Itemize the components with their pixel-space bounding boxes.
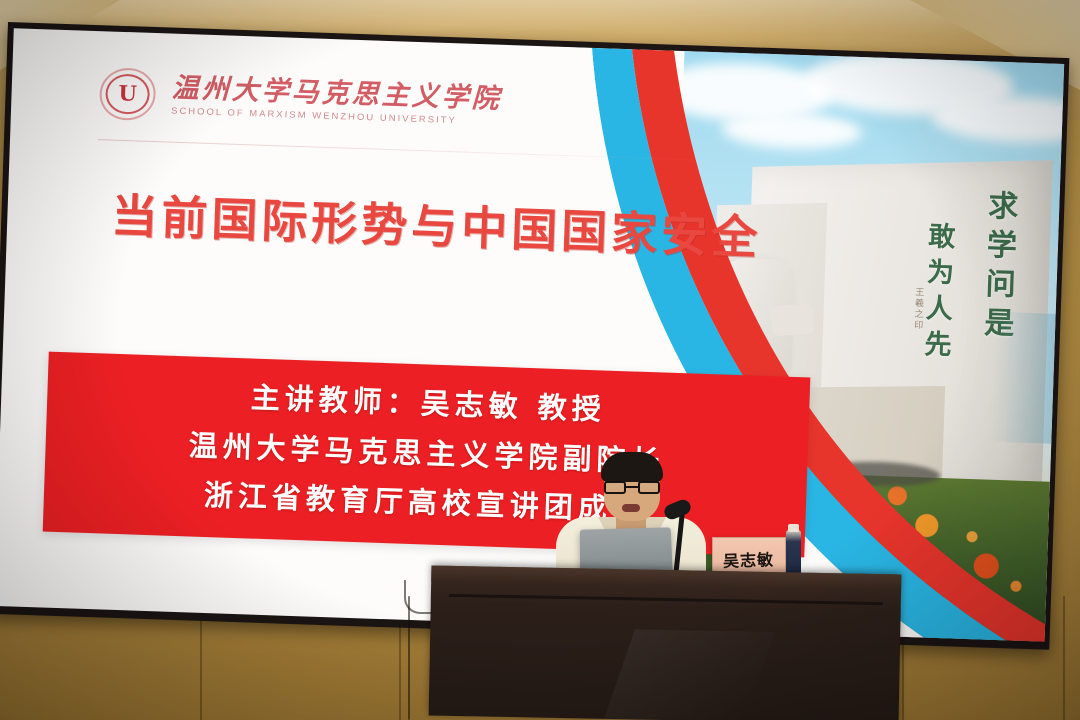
logo-divider-line (98, 139, 718, 161)
lecture-hall-scene: 敢为人先 求学问是 王羲之印 U (0, 0, 1080, 720)
power-cable (408, 596, 410, 720)
glasses-lens-right (638, 481, 660, 494)
school-logo: U 温州大学马克思主义学院 SCHOOL OF MARXISM WENZHOU … (99, 67, 503, 133)
desk-sheen (604, 629, 775, 720)
glasses-bridge (626, 486, 638, 488)
slide-title: 当前国际形势与中国国家安全 (110, 180, 762, 268)
school-logo-text: 温州大学马克思主义学院 SCHOOL OF MARXISM WENZHOU UN… (171, 75, 502, 128)
lecture-desk (429, 566, 902, 720)
wall-seam (200, 620, 202, 720)
speaker-hair (601, 452, 663, 482)
projection-screen-frame: 敢为人先 求学问是 王羲之印 U (0, 22, 1069, 650)
photo-right-haze (991, 312, 1055, 444)
wenzhou-university-emblem-icon: U (99, 67, 157, 121)
statue-arm (770, 303, 814, 336)
speaker-glasses (604, 481, 660, 494)
emblem-letter-u: U (118, 80, 137, 106)
glasses-lens-left (604, 481, 626, 494)
banner-line-presenter: 主讲教师：吴志敏 教授 (250, 376, 606, 432)
speaker-mouth (622, 504, 640, 512)
water-bottle (786, 530, 801, 578)
desk-groove (449, 594, 883, 605)
calligraphy-seal: 王羲之印 (912, 287, 926, 331)
water-bottle-cap (788, 524, 799, 532)
wall-seam (399, 612, 401, 720)
wall-seam (1063, 596, 1065, 720)
presentation-slide: 敢为人先 求学问是 王羲之印 U (0, 28, 1064, 641)
nameplate-text: 吴志敏 (723, 546, 775, 572)
